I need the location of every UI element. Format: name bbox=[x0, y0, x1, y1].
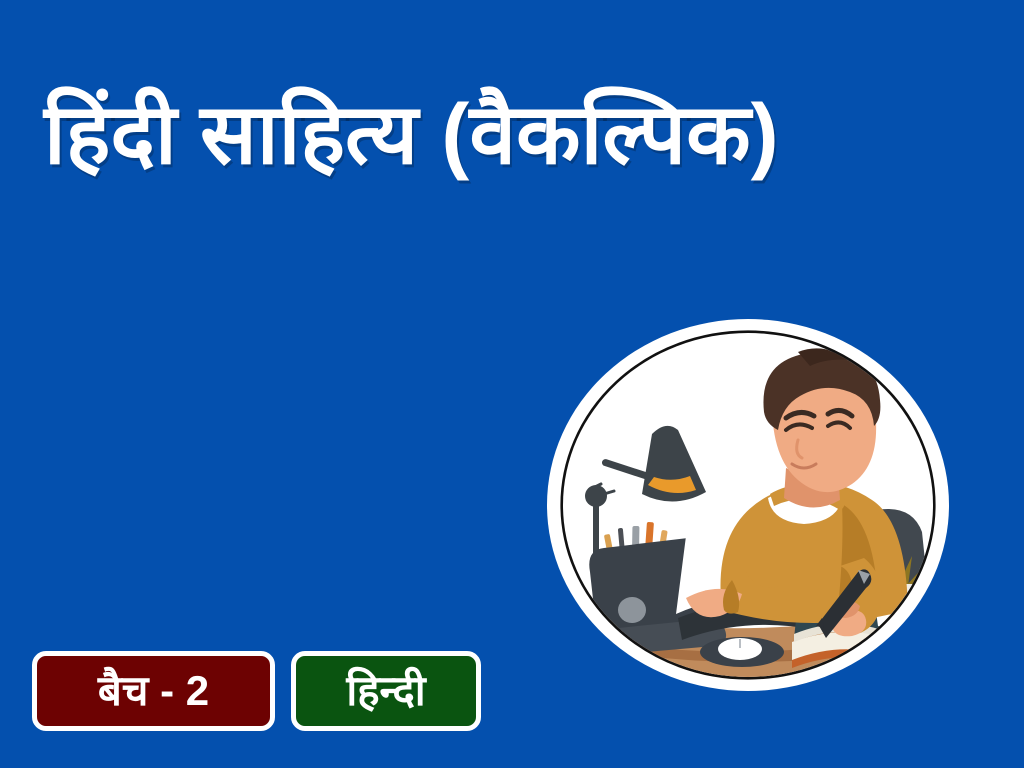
status-badge-batch: बैच - 2 bbox=[32, 651, 275, 731]
computer-mouse bbox=[700, 637, 784, 667]
badge-language-label: हिन्दी bbox=[346, 670, 425, 712]
badge-batch-label: बैच - 2 bbox=[98, 670, 209, 712]
illustration-medallion bbox=[546, 318, 950, 692]
poster-canvas: हिंदी साहित्य (वैकल्पिक) बैच - 2 हिन्दी bbox=[0, 0, 1024, 768]
page-title: हिंदी साहित्य (वैकल्पिक) bbox=[44, 90, 984, 178]
student-studying-at-desk-icon bbox=[546, 318, 950, 692]
badge-row: बैच - 2 हिन्दी bbox=[32, 651, 481, 731]
status-badge-language: हिन्दी bbox=[291, 651, 481, 731]
